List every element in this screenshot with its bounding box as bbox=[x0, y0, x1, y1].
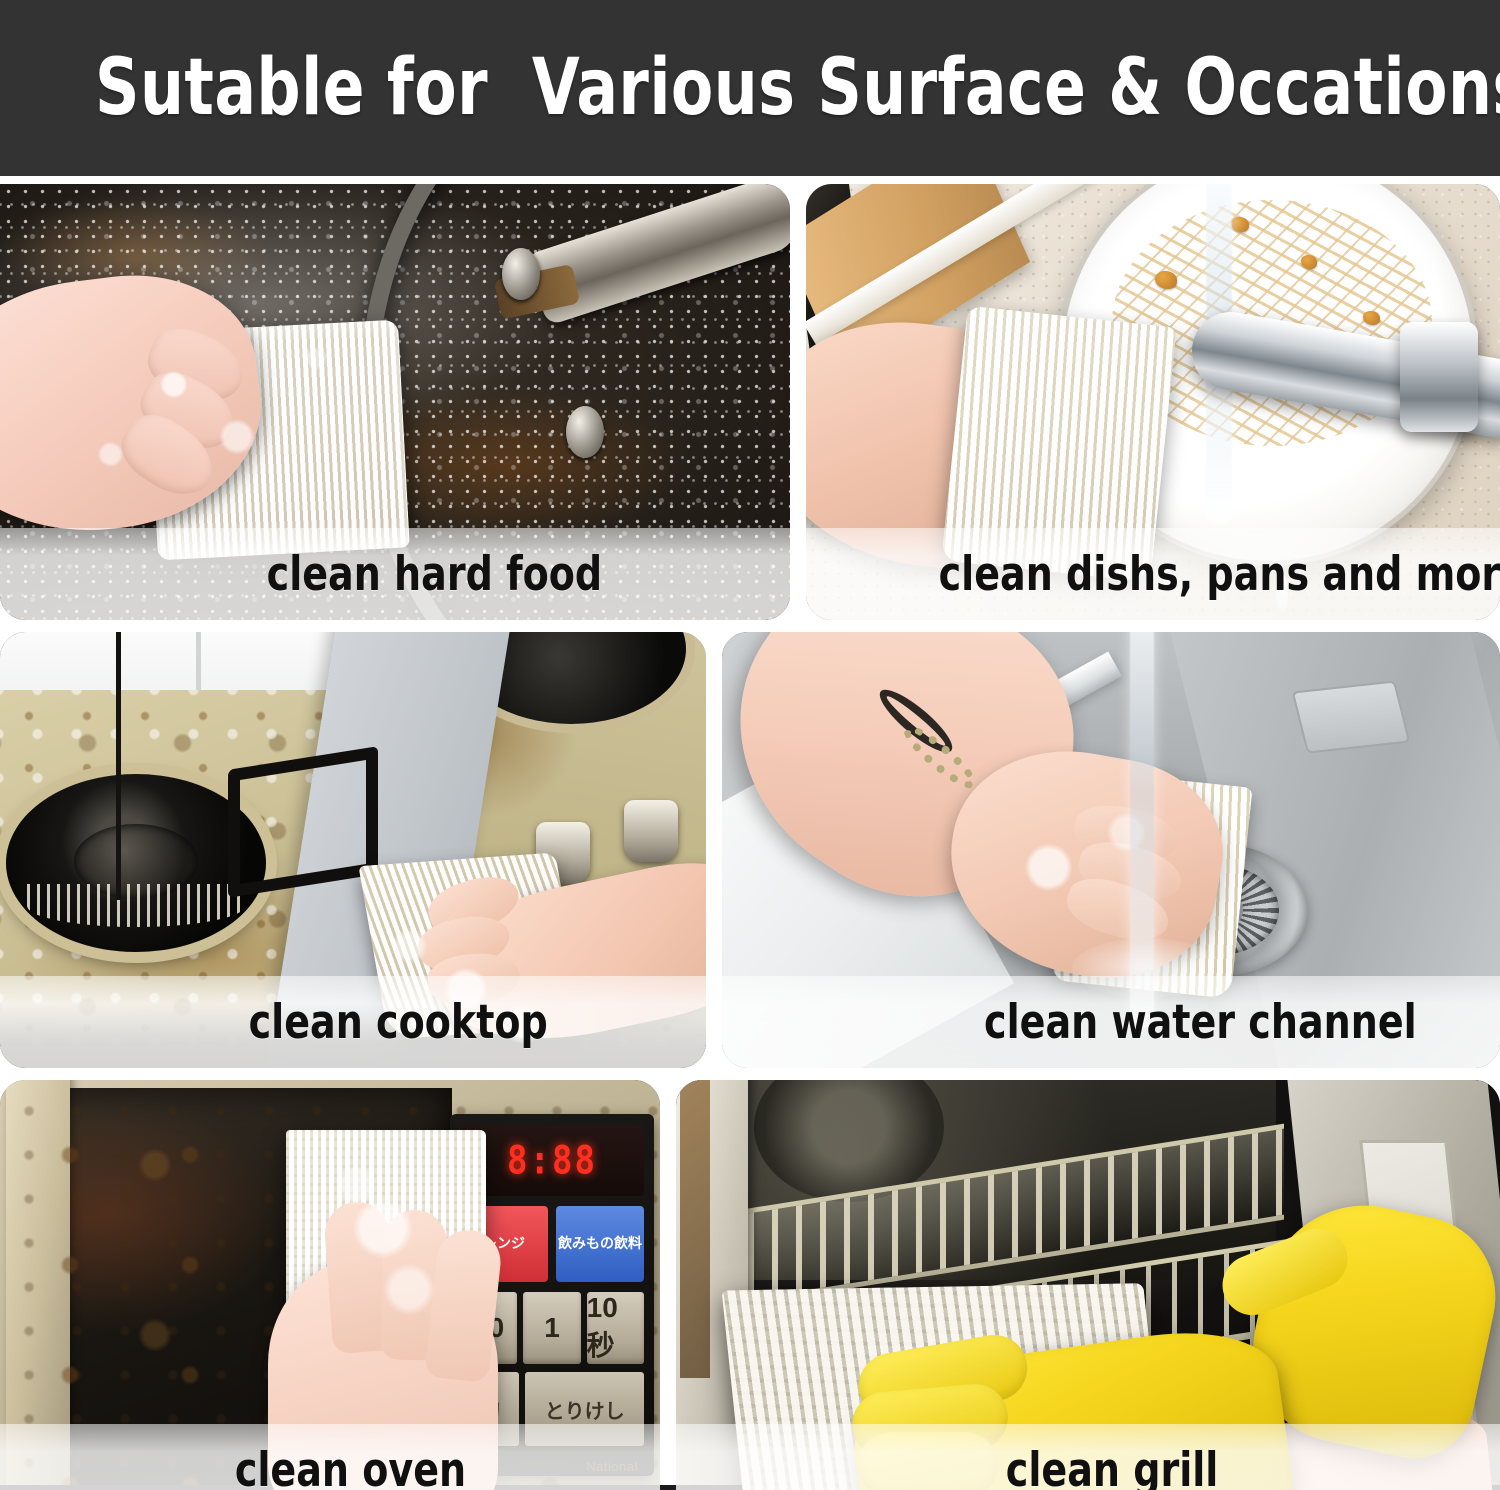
food-crumb bbox=[1301, 255, 1317, 269]
panel-clean-dishes: clean dishs, pans and more bbox=[806, 184, 1500, 620]
page-title: Sutable for Various Surface & Occations bbox=[0, 49, 1500, 127]
caption-text: clean grill bbox=[1006, 1447, 1219, 1490]
water-stream bbox=[1130, 632, 1154, 1028]
caption-band: clean dishs, pans and more bbox=[806, 528, 1500, 620]
food-crumb bbox=[1155, 271, 1177, 289]
caption-band: clean water channel bbox=[722, 976, 1500, 1068]
caption-band: clean hard food bbox=[0, 528, 790, 620]
food-crumb bbox=[1231, 217, 1249, 232]
caption-band: clean cooktop bbox=[0, 976, 706, 1068]
faucet-base bbox=[1400, 322, 1478, 432]
panel-clean-grill: clean grill bbox=[676, 1080, 1500, 1490]
caption-text: clean dishs, pans and more bbox=[939, 551, 1500, 598]
panel-clean-hard-food: clean hard food bbox=[0, 184, 790, 620]
caption-text: clean cooktop bbox=[249, 999, 548, 1046]
caption-text: clean water channel bbox=[984, 999, 1417, 1046]
caption-band: clean oven bbox=[0, 1424, 660, 1490]
food-crumb bbox=[1363, 311, 1380, 325]
panel-grid: clean hard food bbox=[0, 176, 1500, 1490]
caption-text: clean hard food bbox=[267, 551, 603, 598]
panel-clean-water-channel: clean water channel bbox=[722, 632, 1500, 1068]
product-infographic: Sutable for Various Surface & Occations … bbox=[0, 0, 1500, 1490]
caption-band: clean grill bbox=[676, 1424, 1500, 1490]
caption-text: clean oven bbox=[235, 1447, 466, 1490]
panel-clean-oven: 8:88 レンジ 飲みもの飲料 10 1 10秒 切 とりけし bbox=[0, 1080, 660, 1490]
panel-clean-cooktop: clean cooktop bbox=[0, 632, 706, 1068]
header-bar: Sutable for Various Surface & Occations bbox=[0, 0, 1500, 176]
